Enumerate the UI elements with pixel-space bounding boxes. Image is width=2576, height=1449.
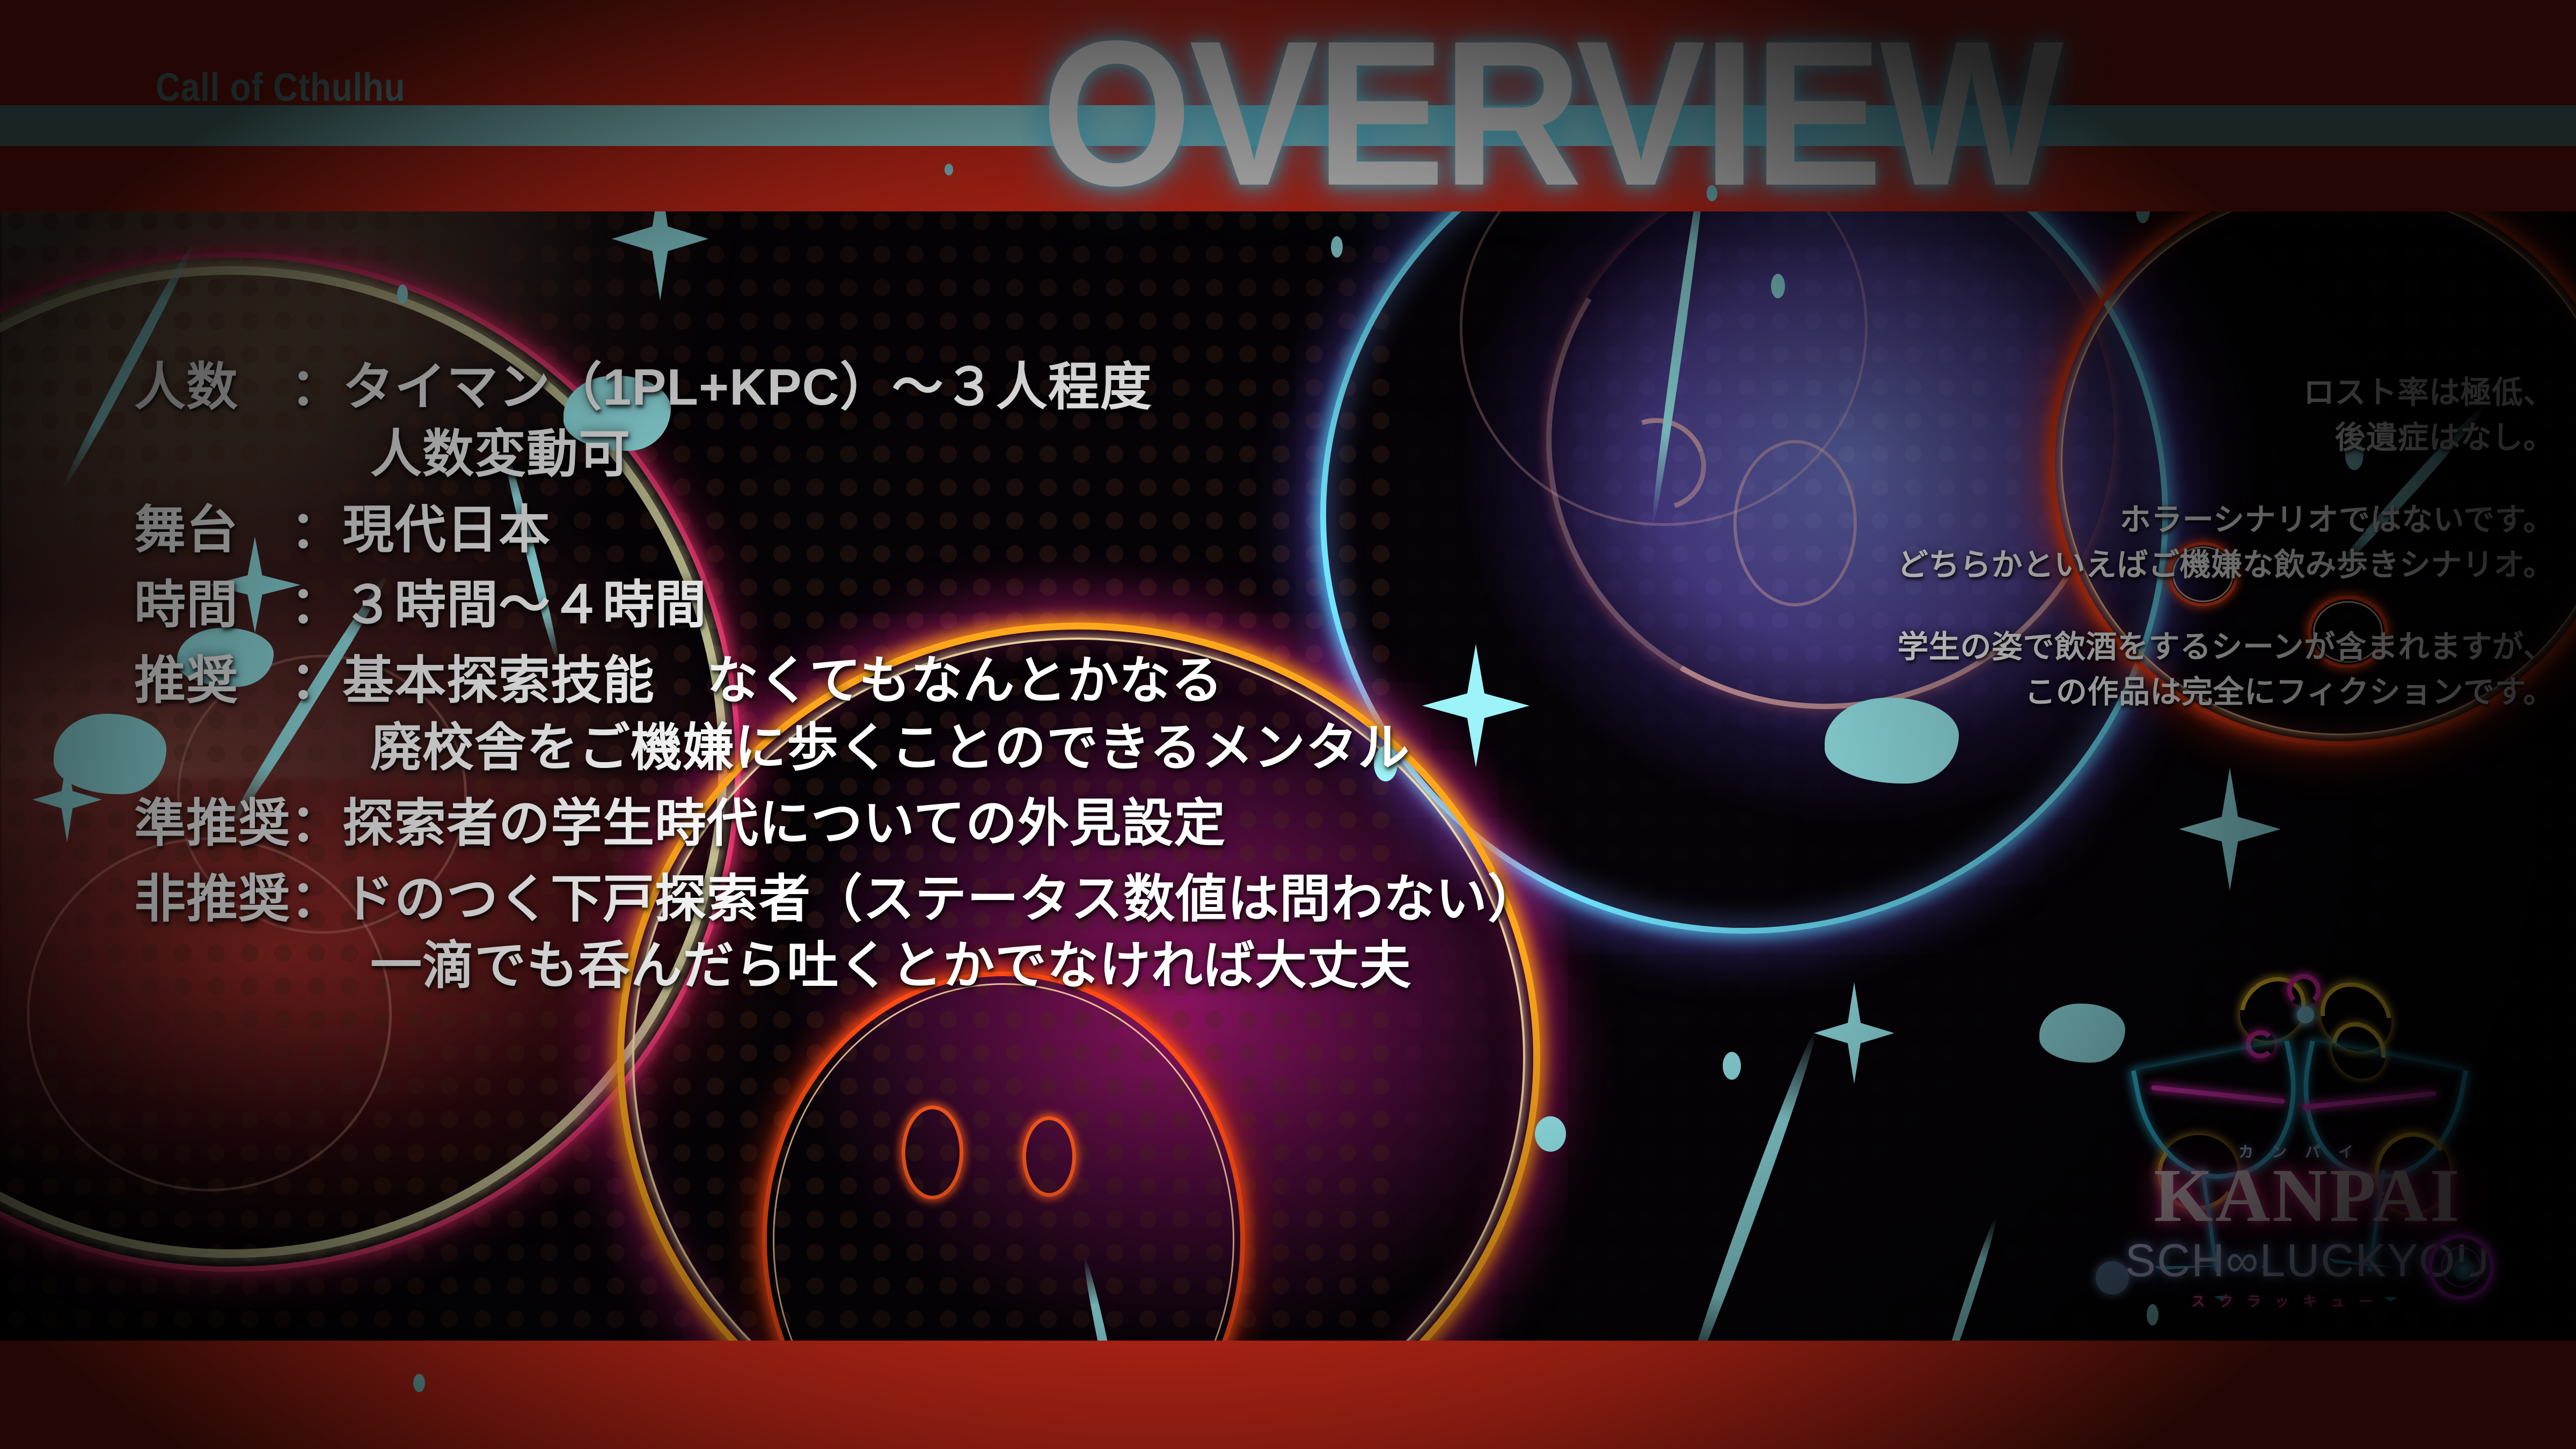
slide-canvas: Call of Cthulhu OVERVIEW 人数 ：タイマン（1PL+KP… [0,0,2576,1449]
vignette-overlay [0,0,2576,1449]
